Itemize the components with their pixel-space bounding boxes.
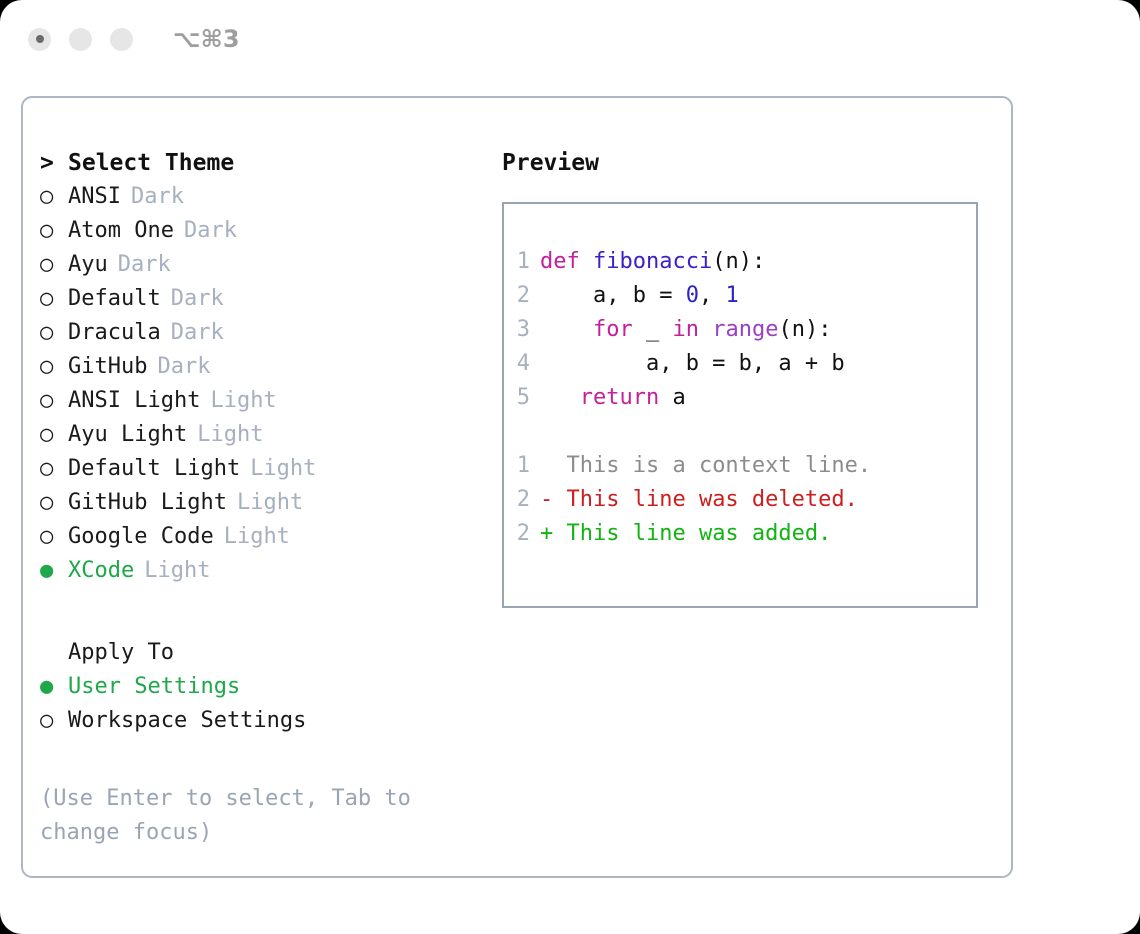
code-diff-gap <box>504 415 976 449</box>
theme-option-row[interactable]: ○GitHub LightLight <box>40 486 500 520</box>
radio-unselected-icon[interactable]: ○ <box>40 418 68 452</box>
theme-option-kind-badge: Light <box>224 524 290 549</box>
code-token-builtin: range <box>712 317 778 342</box>
theme-option-row[interactable]: ○DraculaDark <box>40 316 500 350</box>
theme-option-name: Atom One <box>68 218 174 243</box>
code-line: 5 return a <box>504 381 976 415</box>
theme-option-row[interactable]: ●XCodeLight <box>40 554 500 588</box>
theme-option-kind-badge: Light <box>210 388 276 413</box>
title-bar: ⌥⌘3 <box>0 0 1140 78</box>
app-window: ⌥⌘3 >Select Theme ○ANSIDark○Atom OneDark… <box>0 0 1140 934</box>
radio-unselected-icon[interactable]: ○ <box>40 282 68 316</box>
keyboard-shortcut-label: ⌥⌘3 <box>173 25 240 53</box>
diff-sign: - <box>540 483 553 517</box>
theme-option-row[interactable]: ○Default LightLight <box>40 452 500 486</box>
code-token-plain <box>540 317 593 342</box>
code-token-plain: (n): <box>778 317 831 342</box>
theme-option-kind-badge: Dark <box>171 320 224 345</box>
theme-option-row[interactable]: ○DefaultDark <box>40 282 500 316</box>
theme-option-row[interactable]: ○AyuDark <box>40 248 500 282</box>
code-line-text: for _ in range(n): <box>540 313 831 347</box>
keyboard-hint-line-1: (Use Enter to select, Tab to <box>40 782 460 816</box>
code-sample: 1def fibonacci(n):2 a, b = 0, 13 for _ i… <box>504 245 976 415</box>
code-token-plain: a <box>659 385 686 410</box>
radio-selected-icon[interactable]: ● <box>40 670 68 704</box>
theme-option-kind-badge: Light <box>250 456 316 481</box>
code-token-kw: for <box>593 317 633 342</box>
theme-option-name: ANSI Light <box>68 388 200 413</box>
code-token-num: 1 <box>725 283 738 308</box>
code-token-plain: a, b = <box>540 283 686 308</box>
code-token-plain <box>540 385 580 410</box>
code-token-plain <box>699 317 712 342</box>
preview-column: Preview 1def fibonacci(n):2 a, b = 0, 13… <box>502 146 1002 608</box>
theme-option-name: Dracula <box>68 320 161 345</box>
theme-option-name: GitHub <box>68 354 147 379</box>
radio-unselected-icon[interactable]: ○ <box>40 248 68 282</box>
theme-option-name: Google Code <box>68 524 214 549</box>
diff-line-number: 2 <box>504 517 540 551</box>
diff-line-del: 2- This line was deleted. <box>504 483 976 517</box>
radio-unselected-icon[interactable]: ○ <box>40 384 68 418</box>
theme-option-kind-badge: Light <box>197 422 263 447</box>
code-token-kw: def <box>540 249 593 274</box>
theme-option-name: XCode <box>68 558 134 583</box>
radio-unselected-icon[interactable]: ○ <box>40 350 68 384</box>
select-theme-heading-label: Select Theme <box>68 150 234 176</box>
code-token-plain: _ <box>633 317 673 342</box>
code-token-plain: , <box>699 283 726 308</box>
window-controls <box>28 28 133 51</box>
radio-unselected-icon[interactable]: ○ <box>40 180 68 214</box>
apply-to-option-label: Workspace Settings <box>68 708 306 733</box>
diff-line-text: This line was added. <box>553 517 831 551</box>
apply-to-option-row[interactable]: ●User Settings <box>40 670 500 704</box>
apply-to-option-label: User Settings <box>68 674 240 699</box>
theme-option-name: Default Light <box>68 456 240 481</box>
code-line-number: 4 <box>504 347 540 381</box>
preview-title: Preview <box>502 146 1002 180</box>
code-token-plain: (n): <box>712 249 765 274</box>
radio-unselected-icon[interactable]: ○ <box>40 486 68 520</box>
radio-unselected-icon[interactable]: ○ <box>40 704 68 738</box>
diff-line-text: This line was deleted. <box>553 483 858 517</box>
window-dot-close[interactable] <box>28 28 51 51</box>
code-line-text: a, b = 0, 1 <box>540 279 739 313</box>
theme-option-name: ANSI <box>68 184 121 209</box>
theme-option-row[interactable]: ○GitHubDark <box>40 350 500 384</box>
code-line-text: return a <box>540 381 686 415</box>
diff-sign <box>540 449 553 483</box>
diff-line-add: 2+ This line was added. <box>504 517 976 551</box>
code-line-number: 3 <box>504 313 540 347</box>
code-token-fn: fibonacci <box>593 249 712 274</box>
apply-to-heading: Apply To <box>40 636 500 670</box>
theme-list-column: >Select Theme ○ANSIDark○Atom OneDark○Ayu… <box>40 146 500 850</box>
window-dot-minimize[interactable] <box>69 28 92 51</box>
code-token-kw: return <box>580 385 659 410</box>
theme-option-kind-badge: Dark <box>157 354 210 379</box>
code-token-plain: a, b = b, a + b <box>540 351 845 376</box>
theme-option-kind-badge: Light <box>237 490 303 515</box>
theme-option-row[interactable]: ○Ayu LightLight <box>40 418 500 452</box>
code-line-number: 2 <box>504 279 540 313</box>
apply-to-label: Apply To <box>68 640 174 665</box>
diff-line-number: 1 <box>504 449 540 483</box>
theme-picker-panel: >Select Theme ○ANSIDark○Atom OneDark○Ayu… <box>21 96 1013 878</box>
code-preview-box: 1def fibonacci(n):2 a, b = 0, 13 for _ i… <box>502 202 978 608</box>
code-line-number: 5 <box>504 381 540 415</box>
code-line: 1def fibonacci(n): <box>504 245 976 279</box>
diff-line-text: This is a context line. <box>553 449 871 483</box>
window-dot-active-indicator <box>36 35 44 43</box>
keyboard-hint: (Use Enter to select, Tab to change focu… <box>40 782 460 850</box>
code-line-text: def fibonacci(n): <box>540 245 765 279</box>
prompt-caret-icon: > <box>40 146 68 180</box>
theme-option-kind-badge: Light <box>144 558 210 583</box>
radio-unselected-icon[interactable]: ○ <box>40 520 68 554</box>
code-token-kw: in <box>672 317 699 342</box>
theme-option-kind-badge: Dark <box>131 184 184 209</box>
radio-unselected-icon[interactable]: ○ <box>40 316 68 350</box>
theme-option-kind-badge: Dark <box>118 252 171 277</box>
radio-unselected-icon[interactable]: ○ <box>40 452 68 486</box>
theme-option-name: Default <box>68 286 161 311</box>
theme-option-kind-badge: Dark <box>171 286 224 311</box>
theme-option-kind-badge: Dark <box>184 218 237 243</box>
theme-option-row[interactable]: ○ANSI LightLight <box>40 384 500 418</box>
theme-option-name: GitHub Light <box>68 490 227 515</box>
code-token-num: 0 <box>686 283 699 308</box>
code-line: 3 for _ in range(n): <box>504 313 976 347</box>
theme-option-name: Ayu Light <box>68 422 187 447</box>
radio-selected-icon[interactable]: ● <box>40 554 68 588</box>
code-line-number: 1 <box>504 245 540 279</box>
window-dot-maximize[interactable] <box>110 28 133 51</box>
radio-unselected-icon[interactable]: ○ <box>40 214 68 248</box>
theme-option-row[interactable]: ○Atom OneDark <box>40 214 500 248</box>
apply-to-option-row[interactable]: ○Workspace Settings <box>40 704 500 738</box>
diff-sign: + <box>540 517 553 551</box>
apply-to-options-list: ●User Settings○Workspace Settings <box>40 670 500 738</box>
keyboard-hint-line-2: change focus) <box>40 816 460 850</box>
code-line: 4 a, b = b, a + b <box>504 347 976 381</box>
hint-gap <box>40 738 500 772</box>
theme-option-row[interactable]: ○ANSIDark <box>40 180 500 214</box>
section-gap <box>40 588 500 636</box>
diff-sample: 1 This is a context line.2- This line wa… <box>504 449 976 551</box>
diff-line-ctx: 1 This is a context line. <box>504 449 976 483</box>
theme-option-row[interactable]: ○Google CodeLight <box>40 520 500 554</box>
code-line: 2 a, b = 0, 1 <box>504 279 976 313</box>
theme-options-list: ○ANSIDark○Atom OneDark○AyuDark○DefaultDa… <box>40 180 500 588</box>
select-theme-heading: >Select Theme <box>40 146 500 180</box>
code-line-text: a, b = b, a + b <box>540 347 845 381</box>
diff-line-number: 2 <box>504 483 540 517</box>
theme-option-name: Ayu <box>68 252 108 277</box>
